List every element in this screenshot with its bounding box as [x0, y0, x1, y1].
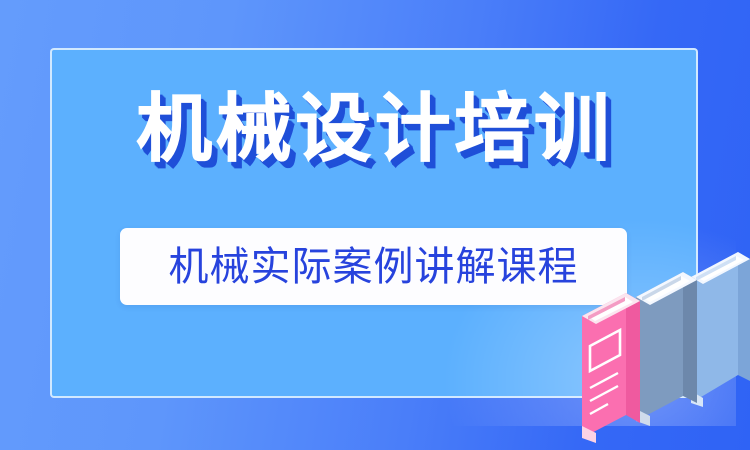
subtitle-plate: 机械实际案例讲解课程 — [120, 228, 627, 305]
book-blue-middle — [636, 272, 697, 426]
book-pink-front — [582, 293, 640, 443]
title-container: 机械设计培训 — [0, 92, 750, 166]
subtitle-text: 机械实际案例讲解课程 — [169, 247, 579, 287]
course-promo-banner: 机械设计培训 机械实际案例讲解课程 — [0, 0, 750, 450]
book-blue-back — [691, 252, 750, 407]
books-svg — [560, 215, 750, 450]
page-title: 机械设计培训 — [136, 92, 613, 166]
books-illustration — [560, 215, 750, 450]
